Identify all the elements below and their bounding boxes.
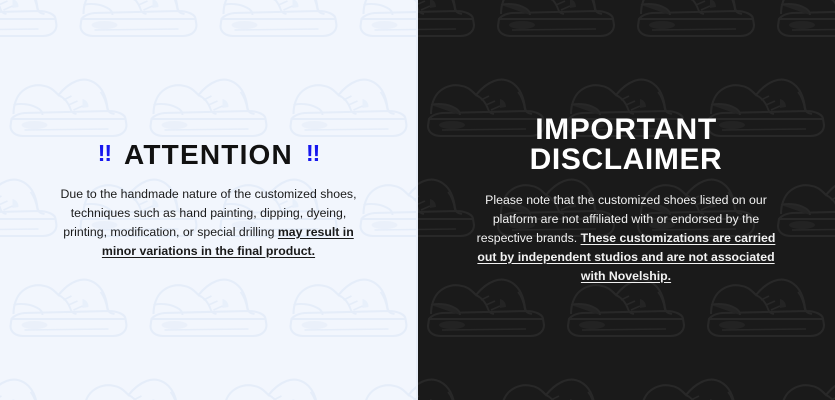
disclaimer-body: Please note that the customized shoes li… (466, 191, 786, 285)
panel-divider (416, 0, 418, 400)
disclaimer-content: IMPORTANT DISCLAIMER Please note that th… (417, 115, 835, 286)
disclaimer-heading: IMPORTANT DISCLAIMER (451, 115, 801, 177)
disclaimer-panel: IMPORTANT DISCLAIMER Please note that th… (417, 0, 835, 400)
double-exclamation-left-icon: !! (98, 142, 111, 165)
double-exclamation-right-icon: !! (306, 142, 319, 165)
dual-notice-banner: !! ATTENTION !! Due to the handmade natu… (0, 0, 835, 400)
attention-heading: !! ATTENTION !! (34, 140, 383, 169)
attention-content: !! ATTENTION !! Due to the handmade natu… (0, 140, 417, 261)
attention-body: Due to the handmade nature of the custom… (59, 185, 359, 260)
attention-panel: !! ATTENTION !! Due to the handmade natu… (0, 0, 417, 400)
attention-title: ATTENTION (124, 140, 293, 169)
disclaimer-title-line-1: IMPORTANT (451, 115, 801, 146)
disclaimer-title-line-2: DISCLAIMER (451, 145, 801, 176)
